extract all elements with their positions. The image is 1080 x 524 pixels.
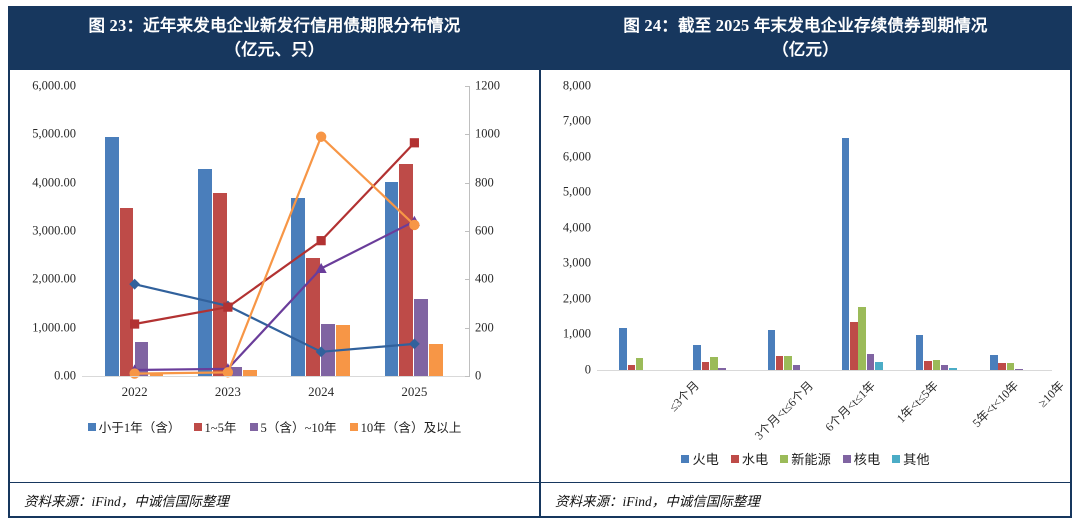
fig23-y2-tickmark [465, 279, 470, 280]
fig24-ytick: 3,000 [541, 256, 591, 271]
fig24-bar [693, 345, 700, 370]
fig24-bar [784, 356, 791, 370]
figure-24-title-line2: （亿元） [563, 38, 1048, 62]
fig23-ytick-left: 5,000.00 [10, 127, 76, 142]
fig23-legend-label: 1~5年 [205, 417, 237, 436]
fig23-y2-tickmark [465, 134, 470, 135]
fig23-ytick-right: 400 [475, 272, 494, 287]
fig23-legend: 小于1年（含）1~5年5（含）~10年10年（含）及以上 [20, 416, 529, 438]
fig23-y2-tickmark [465, 231, 470, 232]
fig24-legend-item[interactable]: 水电 [731, 449, 768, 468]
fig24-ytick: 5,000 [541, 185, 591, 200]
figure-24-title: 图 24：截至 2025 年末发电企业存续债券到期情况 （亿元） [541, 8, 1070, 70]
fig24-legend-item[interactable]: 新能源 [780, 449, 831, 468]
fig24-legend-item[interactable]: 核电 [843, 449, 880, 468]
fig24-bar [867, 354, 874, 370]
fig24-bar [710, 357, 717, 369]
fig23-legend-item[interactable]: 1~5年 [194, 417, 237, 436]
fig23-line-overlay [88, 86, 461, 376]
fig24-legend-swatch [843, 455, 851, 463]
fig24-bar [768, 330, 775, 370]
fig23-y2-tickmark [465, 328, 470, 329]
fig24-legend-swatch [780, 455, 788, 463]
figure-23-title-line1: 图 23：近年来发电企业新发行信用债期限分布情况 [89, 16, 461, 35]
fig23-ytick-right: 0 [475, 368, 481, 383]
fig24-xtick: 3个月<t≤6个月 [751, 377, 817, 443]
fig23-xtick: 2025 [401, 384, 427, 400]
fig24-legend-item[interactable]: 其他 [892, 449, 929, 468]
fig23-ytick-left: 6,000.00 [10, 78, 76, 93]
fig23-ytick-right: 200 [475, 320, 494, 335]
fig24-legend-label: 火电 [692, 449, 718, 468]
fig23-ytick-right: 600 [475, 223, 494, 238]
fig24-ytick: 2,000 [541, 291, 591, 306]
fig24-legend: 火电水电新能源核电其他 [551, 448, 1060, 470]
fig24-bar [842, 138, 849, 370]
fig23-plot-area [88, 86, 461, 376]
fig23-legend-item[interactable]: 10年（含）及以上 [350, 417, 462, 436]
fig24-legend-swatch [681, 455, 689, 463]
fig23-y2-tickmark [465, 183, 470, 184]
fig24-bar [1007, 363, 1014, 370]
fig23-ytick-right: 1200 [475, 78, 500, 93]
figure-24-title-line1: 图 24：截至 2025 年末发电企业存续债券到期情况 [623, 16, 987, 35]
figure-23-title-line2: （亿元、只） [32, 38, 517, 62]
fig24-bar [619, 328, 626, 370]
figure-23-title: 图 23：近年来发电企业新发行信用债期限分布情况 （亿元、只） [10, 8, 539, 70]
fig24-legend-swatch [731, 455, 739, 463]
fig24-bar [916, 335, 923, 369]
fig24-legend-label: 水电 [742, 449, 768, 468]
fig23-legend-swatch [250, 423, 258, 431]
fig24-bar [850, 322, 857, 370]
fig24-bar [924, 361, 931, 370]
fig24-ytick: 7,000 [541, 114, 591, 129]
fig24-bar [776, 356, 783, 370]
fig24-legend-label: 核电 [854, 449, 880, 468]
figure-23-source: 资料来源：iFind，中诚信国际整理 [10, 482, 539, 516]
figure-24-chart: 01,0002,0003,0004,0005,0006,0007,0008,00… [541, 70, 1070, 482]
fig24-legend-swatch [892, 455, 900, 463]
fig24-bar [933, 360, 940, 370]
fig24-bar [636, 358, 643, 370]
fig23-legend-label: 小于1年（含） [99, 417, 181, 436]
fig24-xtick: 5年<t<10年 [968, 377, 1022, 431]
figure-24-source: 资料来源：iFind，中诚信国际整理 [541, 482, 1070, 516]
fig23-legend-item[interactable]: 小于1年（含） [88, 417, 181, 436]
fig23-xtick: 2023 [215, 384, 241, 400]
fig24-xtick: ≥10年 [1034, 377, 1068, 411]
fig24-xtick: 1年<t≤5年 [892, 377, 941, 426]
fig23-ytick-right: 1000 [475, 127, 500, 142]
fig24-ytick: 4,000 [541, 220, 591, 235]
fig24-xtick: ≤3个月 [665, 377, 703, 415]
fig23-legend-swatch [350, 423, 358, 431]
fig23-legend-label: 10年（含）及以上 [361, 417, 462, 436]
fig24-legend-label: 其他 [903, 449, 929, 468]
fig23-legend-swatch [194, 423, 202, 431]
fig23-ytick-left: 2,000.00 [10, 272, 76, 287]
fig24-plot-area [603, 86, 1048, 370]
fig24-x-axis-line [597, 370, 1052, 371]
fig24-ytick: 8,000 [541, 78, 591, 93]
figure-24-panel: 图 24：截至 2025 年末发电企业存续债券到期情况 （亿元） 01,0002… [540, 6, 1072, 518]
fig23-ytick-left: 3,000.00 [10, 223, 76, 238]
fig24-bar [990, 355, 997, 370]
fig23-y2-tickmark [465, 86, 470, 87]
fig23-y2-tickmark [465, 376, 470, 377]
fig24-legend-item[interactable]: 火电 [681, 449, 718, 468]
fig24-xtick: 6个月<t≤1年 [821, 377, 879, 435]
fig23-xtick: 2022 [122, 384, 148, 400]
fig24-bar [702, 362, 709, 370]
figure-23-chart: 0.001,000.002,000.003,000.004,000.005,00… [10, 70, 539, 482]
figure-page: 图 23：近年来发电企业新发行信用债期限分布情况 （亿元、只） 0.001,00… [0, 0, 1080, 524]
fig23-x-axis-line [82, 376, 467, 377]
fig23-legend-swatch [88, 423, 96, 431]
fig24-ytick: 0 [541, 362, 591, 377]
fig23-ytick-left: 0.00 [10, 368, 76, 383]
fig23-ytick-left: 1,000.00 [10, 320, 76, 335]
fig23-legend-item[interactable]: 5（含）~10年 [250, 417, 337, 436]
fig24-ytick: 1,000 [541, 327, 591, 342]
fig23-ytick-right: 800 [475, 175, 494, 190]
fig24-legend-label: 新能源 [791, 449, 831, 468]
fig24-bar [998, 363, 1005, 370]
fig24-bar [858, 307, 865, 370]
figure-23-panel: 图 23：近年来发电企业新发行信用债期限分布情况 （亿元、只） 0.001,00… [8, 6, 540, 518]
fig24-ytick: 6,000 [541, 149, 591, 164]
panel-grid: 图 23：近年来发电企业新发行信用债期限分布情况 （亿元、只） 0.001,00… [8, 6, 1072, 518]
fig24-bar [875, 362, 882, 370]
fig23-legend-label: 5（含）~10年 [261, 417, 337, 436]
fig23-xtick: 2024 [308, 384, 334, 400]
fig23-ytick-left: 4,000.00 [10, 175, 76, 190]
